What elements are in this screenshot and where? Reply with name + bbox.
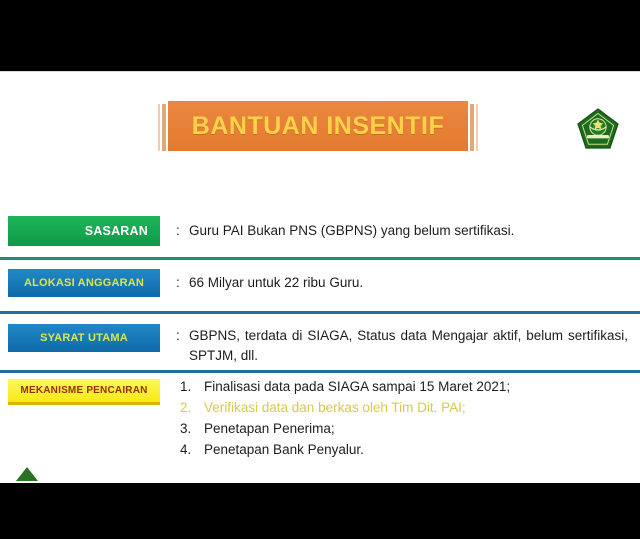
step-number: 2. (180, 398, 204, 419)
value-alokasi-anggaran: : 66 Milyar untuk 22 ribu Guru. (176, 273, 628, 293)
label-bar-alokasi-anggaran: ALOKASI ANGGARAN (8, 269, 160, 297)
row-syarat-utama: SYARAT UTAMA : GBPNS, terdata di SIAGA, … (0, 320, 640, 372)
green-triangle-artifact (16, 467, 38, 481)
kementerian-agama-logo-icon (576, 107, 620, 151)
colon-sasaran: : (176, 221, 189, 241)
row-alokasi-anggaran: ALOKASI ANGGARAN : 66 Milyar untuk 22 ri… (0, 265, 640, 307)
label-alokasi-anggaran: ALOKASI ANGGARAN (18, 277, 150, 289)
step-text: Penetapan Bank Penyalur. (204, 440, 364, 461)
row-mekanisme-pencairan: MEKANISME PENCAIRAN 1. Finalisasi data p… (0, 377, 640, 473)
slide-title-bar: BANTUAN INSENTIF (168, 101, 468, 151)
step-number: 3. (180, 419, 204, 440)
row-sasaran: SASARAN : Guru PAI Bukan PNS (GBPNS) yan… (0, 210, 640, 256)
value-mekanisme-pencairan: 1. Finalisasi data pada SIAGA sampai 15 … (180, 377, 628, 461)
label-syarat-utama: SYARAT UTAMA (18, 332, 150, 344)
value-syarat-utama: : GBPNS, terdata di SIAGA, Status data M… (176, 326, 628, 365)
screenshot-frame: BANTUAN INSENTIF SASARAN (0, 0, 640, 539)
separator-after-syarat-utama (0, 370, 640, 373)
value-sasaran: : Guru PAI Bukan PNS (GBPNS) yang belum … (176, 221, 628, 241)
list-item: 2. Verifikasi data dan berkas oleh Tim D… (180, 398, 628, 419)
title-banner-edge-right (470, 104, 474, 151)
value-text-sasaran: Guru PAI Bukan PNS (GBPNS) yang belum se… (189, 221, 628, 241)
label-mekanisme-pencairan: MEKANISME PENCAIRAN (14, 385, 154, 396)
page-title: BANTUAN INSENTIF (192, 112, 444, 141)
letterbox-bottom-bar (0, 483, 640, 539)
presentation-slide: BANTUAN INSENTIF SASARAN (0, 71, 640, 483)
step-text: Finalisasi data pada SIAGA sampai 15 Mar… (204, 377, 510, 398)
label-bar-sasaran: SASARAN (8, 216, 160, 246)
value-text-alokasi-anggaran: 66 Milyar untuk 22 ribu Guru. (189, 273, 628, 293)
list-item: 3. Penetapan Penerima; (180, 419, 628, 440)
mekanisme-step-list: 1. Finalisasi data pada SIAGA sampai 15 … (180, 377, 628, 461)
step-text: Verifikasi data dan berkas oleh Tim Dit.… (204, 398, 466, 419)
colon-alokasi-anggaran: : (176, 273, 189, 293)
list-item: 1. Finalisasi data pada SIAGA sampai 15 … (180, 377, 628, 398)
colon-syarat-utama: : (176, 326, 189, 346)
title-banner-outer-edge-right (476, 104, 478, 151)
step-number: 4. (180, 440, 204, 461)
title-banner-outer-edge-left (158, 104, 160, 151)
list-item: 4. Penetapan Bank Penyalur. (180, 440, 628, 461)
label-bar-mekanisme-pencairan: MEKANISME PENCAIRAN (8, 379, 160, 405)
title-banner-edge-left (162, 104, 166, 151)
slide-top-rule (0, 71, 640, 72)
step-number: 1. (180, 377, 204, 398)
step-text: Penetapan Penerima; (204, 419, 335, 440)
separator-after-sasaran (0, 257, 640, 260)
separator-after-alokasi-anggaran (0, 311, 640, 314)
label-sasaran: SASARAN (8, 224, 148, 238)
value-text-syarat-utama: GBPNS, terdata di SIAGA, Status data Men… (189, 326, 628, 365)
slide-title-banner: BANTUAN INSENTIF (158, 101, 478, 151)
label-bar-syarat-utama: SYARAT UTAMA (8, 324, 160, 352)
letterbox-top-bar (0, 0, 640, 71)
